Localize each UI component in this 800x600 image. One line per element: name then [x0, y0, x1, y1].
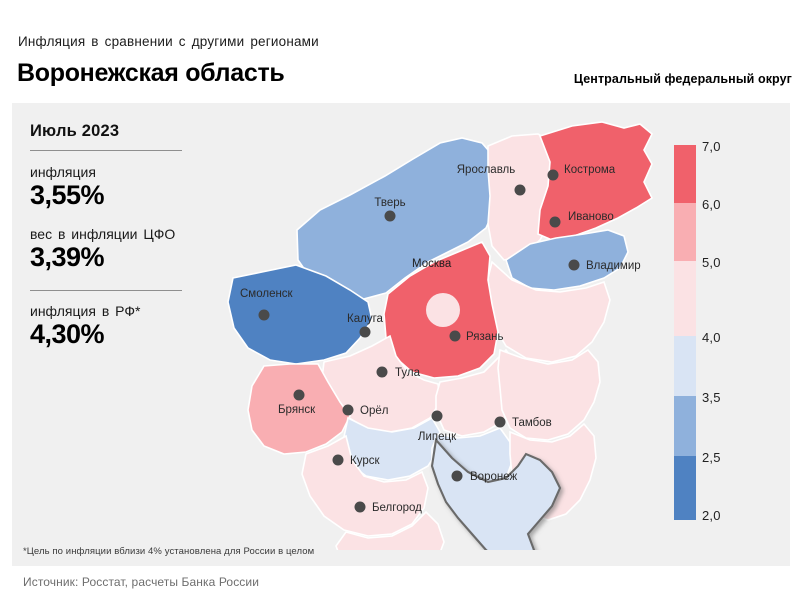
map-label-ivanovo: Иваново [568, 211, 614, 223]
map-dot-smolensk [259, 310, 270, 321]
stat-value-inflation: 3,55% [30, 181, 205, 210]
legend-band-4-5 [674, 261, 696, 336]
map-label-belgorod: Белгород [372, 502, 422, 514]
map-label-yaroslavl: Ярославль [457, 164, 516, 176]
map-label-tver: Тверь [374, 197, 405, 209]
map-label-tambov: Тамбов [512, 417, 552, 429]
stats-period: Июль 2023 [30, 122, 205, 141]
map-dot-kaluga [360, 327, 371, 338]
map-dot-kursk [333, 455, 344, 466]
legend-band-3.5-4 [674, 336, 696, 396]
map-dot-tambov [495, 417, 506, 428]
stat-value-weight: 3,39% [30, 243, 205, 272]
map-dot-yaroslavl [515, 185, 526, 196]
map-label-kaluga: Калуга [347, 313, 383, 325]
legend-band-5-6 [674, 203, 696, 261]
stat-label-weight: вес в инфляции ЦФО [30, 226, 205, 242]
legend-tick-2.0: 2,0 [702, 508, 721, 523]
legend-band-2-2.5 [674, 456, 696, 520]
map-label-ryazan: Рязань [466, 331, 504, 343]
map-label-bryansk: Брянск [278, 404, 316, 416]
legend-tick-2.5: 2,5 [702, 450, 721, 465]
map-label-moscow: Москва [412, 258, 452, 270]
page-title: Воронежская область [17, 59, 284, 88]
map-label-oryol: Орёл [360, 405, 388, 417]
legend-tick-3.5: 3,5 [702, 390, 721, 405]
map-dot-kostroma [548, 170, 559, 181]
map-dot-voronezh [452, 471, 463, 482]
map-dot-belgorod [355, 502, 366, 513]
legend-band-2.5-3.5 [674, 396, 696, 456]
map-dot-ivanovo [550, 217, 561, 228]
legend-gradient-bar [674, 145, 696, 520]
divider-top [30, 150, 182, 151]
map-dot-ryazan [450, 331, 461, 342]
map-label-voronezh: Воронеж [470, 471, 517, 483]
map-label-lipetsk: Липецк [418, 431, 457, 443]
stats-block: Июль 2023 инфляция 3,55% вес в инфляции … [30, 122, 205, 349]
stat-label-inflation: инфляция [30, 164, 205, 180]
map-dot-tula [377, 367, 388, 378]
divider-bottom [30, 290, 182, 291]
map-dot-vladimir [569, 260, 580, 271]
map-label-kostroma: Кострома [564, 164, 616, 176]
stat-label-russia: инфляция в РФ* [30, 303, 205, 319]
map-label-tula: Тула [395, 367, 421, 379]
infographic-root: Инфляция в сравнении с другими регионами… [0, 0, 800, 600]
legend-tick-6.0: 6,0 [702, 197, 721, 212]
map-dot-tver [385, 211, 396, 222]
legend-tick-7.0: 7,0 [702, 139, 721, 154]
source-text: Источник: Росстат, расчеты Банка России [23, 575, 259, 589]
legend-band-6-7 [674, 145, 696, 203]
legend-tick-5.0: 5,0 [702, 255, 721, 270]
footnote-text: *Цель по инфляции вблизи 4% установлена … [23, 546, 314, 557]
region-map: Ярославль Кострома Тверь Иваново Владими… [200, 110, 670, 550]
district-title: Центральный федеральный округ [574, 72, 792, 86]
legend-tick-labels: 7,0 6,0 5,0 4,0 3,5 2,5 2,0 [702, 145, 746, 520]
legend-tick-4.0: 4,0 [702, 330, 721, 345]
map-label-kursk: Курск [350, 455, 380, 467]
map-label-smolensk: Смоленск [240, 288, 294, 300]
map-dot-lipetsk [432, 411, 443, 422]
map-label-vladimir: Владимир [586, 260, 641, 272]
map-city-moscow-marker [426, 293, 460, 327]
kicker-text: Инфляция в сравнении с другими регионами [18, 34, 319, 49]
stat-value-russia: 4,30% [30, 320, 205, 349]
map-dot-oryol [343, 405, 354, 416]
map-dot-bryansk [294, 390, 305, 401]
